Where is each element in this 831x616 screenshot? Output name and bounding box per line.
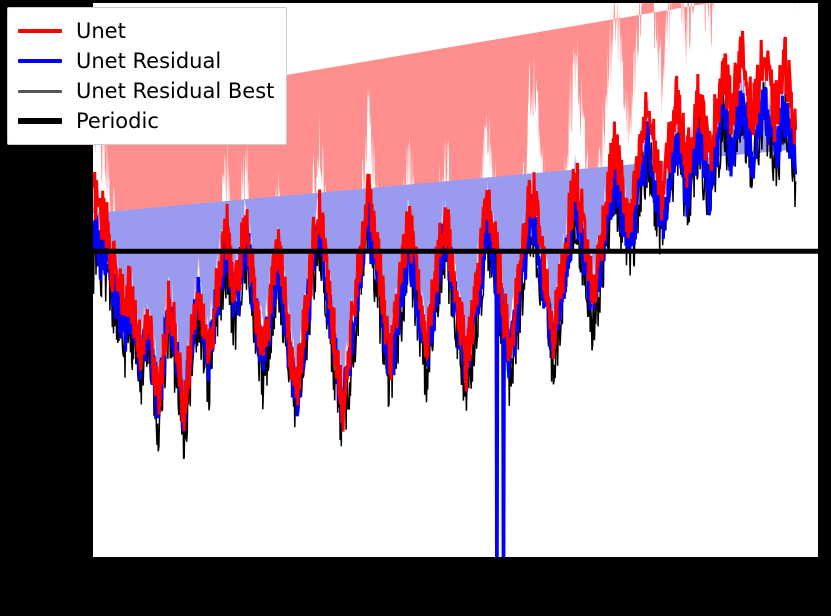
legend-entry-unet-residual-best: Unet Residual Best (18, 76, 274, 106)
legend-entry-unet-residual: Unet Residual (18, 46, 274, 76)
chart-legend: Unet Unet Residual Unet Residual Best Pe… (7, 7, 287, 145)
legend-line-unet-residual-icon (18, 53, 62, 69)
legend-label-unet: Unet (76, 19, 126, 43)
legend-line-unet-residual-best-icon (18, 83, 62, 99)
legend-label-unet-residual: Unet Residual (76, 49, 221, 73)
legend-line-periodic-icon (18, 113, 62, 129)
legend-entry-periodic: Periodic (18, 106, 274, 136)
legend-entry-unet: Unet (18, 16, 274, 46)
legend-label-periodic: Periodic (76, 109, 159, 133)
legend-line-unet-icon (18, 23, 62, 39)
figure-canvas: Unet Unet Residual Unet Residual Best Pe… (0, 0, 831, 616)
legend-label-unet-residual-best: Unet Residual Best (76, 79, 274, 103)
